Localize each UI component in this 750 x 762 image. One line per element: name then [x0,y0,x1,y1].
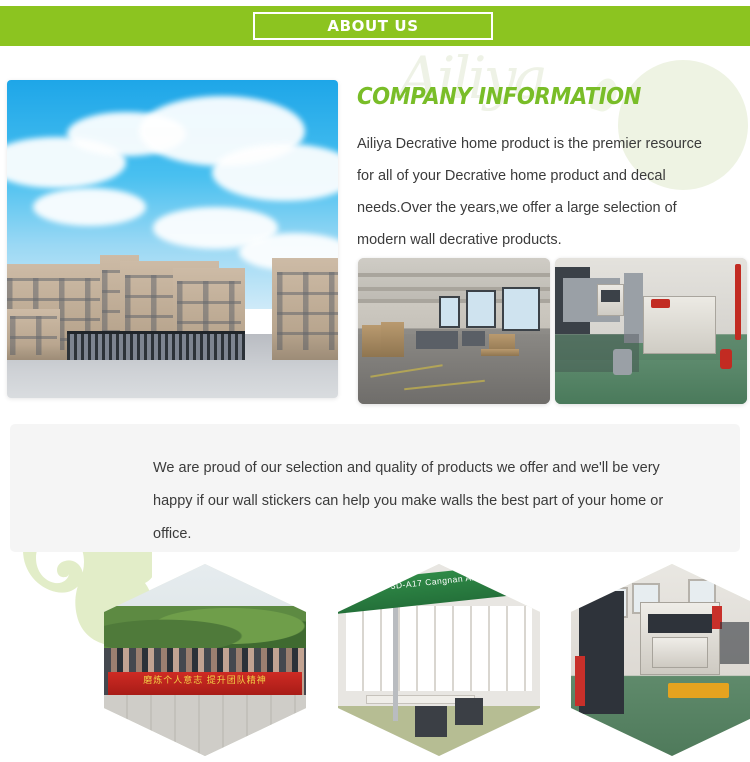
about-us-page: ABOUT US Ailiya [0,0,750,762]
printing-machine-image[interactable] [555,258,747,404]
page-title: ABOUT US [327,19,418,34]
main-factory-image[interactable] [7,80,338,398]
workshop-interior-image[interactable] [358,258,550,404]
gallery-hex-exhibition-booth[interactable]: 3D-A17 Cangnan Ailiya Arts Crafts [338,564,540,756]
quote-text: We are proud of our selection and qualit… [153,452,698,551]
company-information-heading: COMPANY INFORMATION [357,84,641,110]
banner-red: 磨炼个人意志 提升团队精神 [108,672,302,695]
company-information-body: Ailiya Decrative home product is the pre… [357,128,707,256]
about-us-title-box: ABOUT US [253,12,493,40]
banner-text: 磨炼个人意志 提升团队精神 [108,672,302,689]
gallery-hex-machinery[interactable] [571,564,750,756]
